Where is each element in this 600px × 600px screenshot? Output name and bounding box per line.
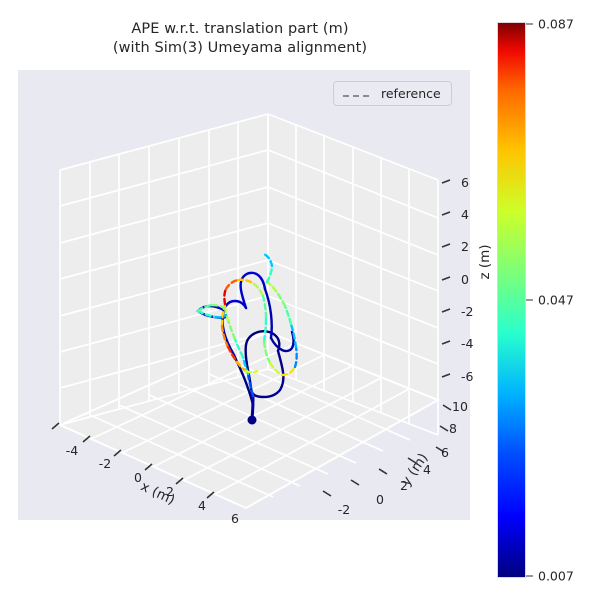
colorbar-tick-label: 0.047 bbox=[538, 293, 574, 308]
colorbar-tick-max: 0.087 bbox=[526, 17, 574, 32]
legend-box[interactable]: reference bbox=[333, 81, 452, 106]
chart-title-line1: APE w.r.t. translation part (m) bbox=[0, 20, 480, 39]
figure-canvas: APE w.r.t. translation part (m) (with Si… bbox=[0, 0, 600, 600]
legend-label-reference: reference bbox=[381, 86, 441, 101]
colorbar-tick-label: 0.007 bbox=[538, 569, 574, 584]
colorbar-tickmark bbox=[526, 299, 533, 300]
chart-title-line2: (with Sim(3) Umeyama alignment) bbox=[0, 39, 480, 58]
plot-svg bbox=[18, 70, 470, 520]
z-axis-label: z (m) bbox=[477, 244, 493, 279]
chart-title: APE w.r.t. translation part (m) (with Si… bbox=[0, 20, 480, 58]
colorbar-tickmark bbox=[526, 23, 533, 24]
colorbar-tickmark bbox=[526, 575, 533, 576]
colorbar[interactable]: 0.087 0.047 0.007 bbox=[497, 22, 597, 578]
axes-3d-panel bbox=[18, 70, 470, 520]
colorbar-tick-min: 0.007 bbox=[526, 569, 574, 584]
colorbar-tick-label: 0.087 bbox=[538, 17, 574, 32]
colorbar-gradient[interactable] bbox=[497, 22, 526, 578]
colorbar-tick-mid: 0.047 bbox=[526, 293, 574, 308]
legend-line-sample bbox=[342, 93, 372, 95]
